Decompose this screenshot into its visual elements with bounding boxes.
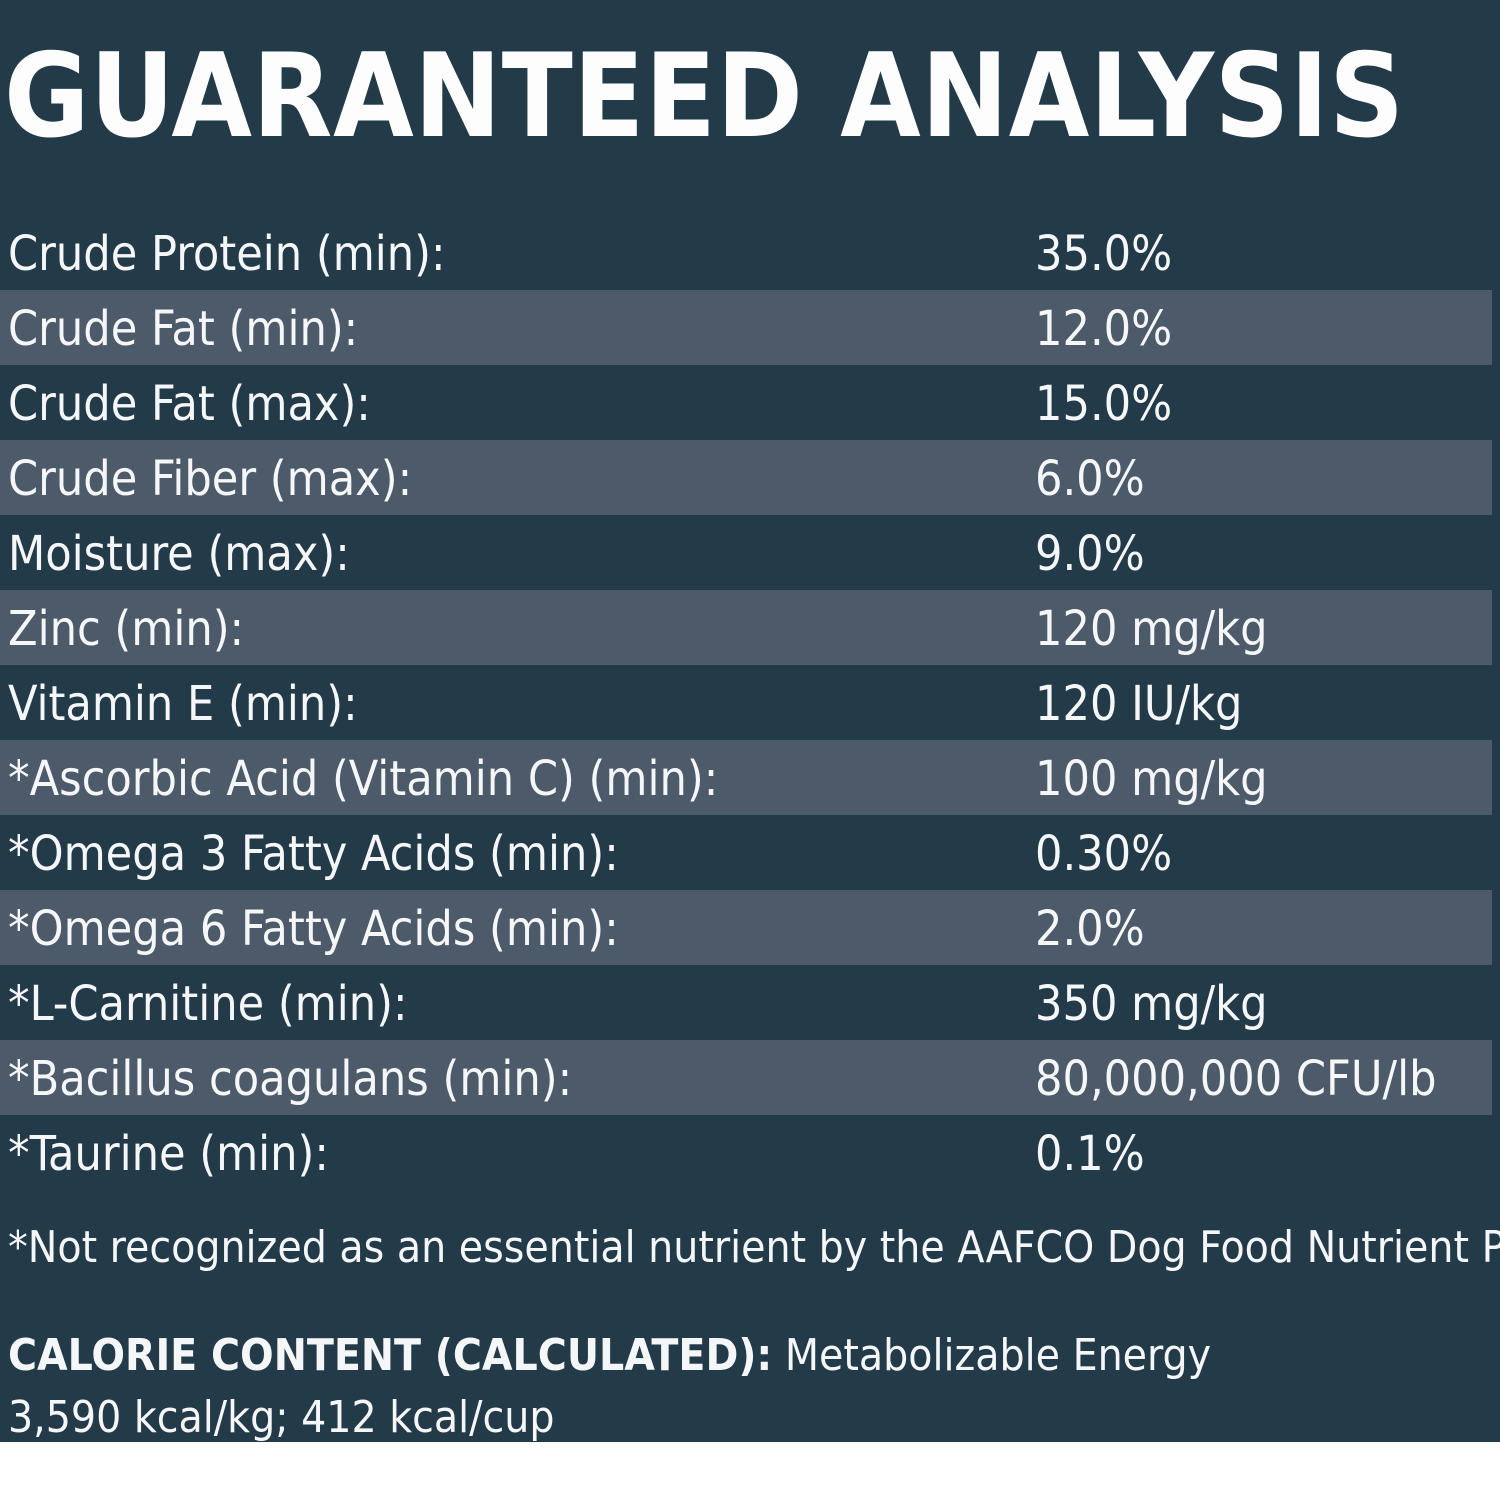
bottom-white-strip — [0, 1442, 1500, 1500]
table-row: Vitamin E (min):120 IU/kg — [0, 665, 1500, 740]
table-row: *L-Carnitine (min):350 mg/kg — [0, 965, 1500, 1040]
nutrient-value: 0.30% — [1035, 815, 1172, 890]
nutrient-value: 9.0% — [1035, 515, 1145, 590]
aafco-footnote: *Not recognized as an essential nutrient… — [8, 1218, 1488, 1278]
calorie-content-block: CALORIE CONTENT (CALCULATED): Metaboliza… — [8, 1325, 1488, 1442]
table-row: *Ascorbic Acid (Vitamin C) (min):100 mg/… — [0, 740, 1492, 815]
nutrient-label: Zinc (min): — [8, 590, 244, 665]
nutrient-label: *Bacillus coagulans (min): — [8, 1040, 572, 1115]
nutrient-label: Vitamin E (min): — [8, 665, 358, 740]
calorie-content-values: 3,590 kcal/kg; 412 kcal/cup — [8, 1387, 1488, 1442]
nutrient-value: 80,000,000 CFU/lb — [1035, 1040, 1436, 1115]
nutrient-value: 35.0% — [1035, 215, 1172, 290]
nutrient-value: 120 IU/kg — [1035, 665, 1242, 740]
nutrient-label: Crude Protein (min): — [8, 215, 446, 290]
nutrient-label: *Omega 3 Fatty Acids (min): — [8, 815, 619, 890]
table-row: Crude Fat (min):12.0% — [0, 290, 1492, 365]
nutrient-label: *Omega 6 Fatty Acids (min): — [8, 890, 619, 965]
calorie-content-description: Metabolizable Energy — [785, 1330, 1211, 1381]
table-row: *Omega 3 Fatty Acids (min):0.30% — [0, 815, 1500, 890]
nutrient-label: Crude Fat (min): — [8, 290, 358, 365]
nutrient-label: Crude Fat (max): — [8, 365, 371, 440]
table-row: Crude Fat (max):15.0% — [0, 365, 1500, 440]
nutrient-value: 100 mg/kg — [1035, 740, 1268, 815]
table-row: Zinc (min):120 mg/kg — [0, 590, 1492, 665]
nutrient-label: *L-Carnitine (min): — [8, 965, 408, 1040]
nutrient-value: 350 mg/kg — [1035, 965, 1268, 1040]
table-row: *Omega 6 Fatty Acids (min):2.0% — [0, 890, 1492, 965]
nutrient-label: Crude Fiber (max): — [8, 440, 412, 515]
guaranteed-analysis-table: Crude Protein (min):35.0%Crude Fat (min)… — [0, 215, 1500, 1190]
nutrient-label: *Taurine (min): — [8, 1115, 329, 1190]
table-row: *Taurine (min):0.1% — [0, 1115, 1500, 1190]
nutrient-value: 120 mg/kg — [1035, 590, 1268, 665]
nutrient-label: *Ascorbic Acid (Vitamin C) (min): — [8, 740, 718, 815]
table-row: Moisture (max):9.0% — [0, 515, 1500, 590]
nutrient-value: 2.0% — [1035, 890, 1145, 965]
nutrient-label: Moisture (max): — [8, 515, 350, 590]
table-row: Crude Fiber (max):6.0% — [0, 440, 1492, 515]
nutrient-value: 6.0% — [1035, 440, 1145, 515]
table-row: *Bacillus coagulans (min):80,000,000 CFU… — [0, 1040, 1492, 1115]
nutrient-value: 15.0% — [1035, 365, 1172, 440]
nutrient-value: 12.0% — [1035, 290, 1172, 365]
guaranteed-analysis-panel: GUARANTEED ANALYSIS Crude Protein (min):… — [0, 0, 1500, 1442]
nutrient-value: 0.1% — [1035, 1115, 1145, 1190]
page-title: GUARANTEED ANALYSIS — [4, 38, 1494, 158]
calorie-content-heading: CALORIE CONTENT (CALCULATED): — [8, 1330, 772, 1381]
table-row: Crude Protein (min):35.0% — [0, 215, 1500, 290]
